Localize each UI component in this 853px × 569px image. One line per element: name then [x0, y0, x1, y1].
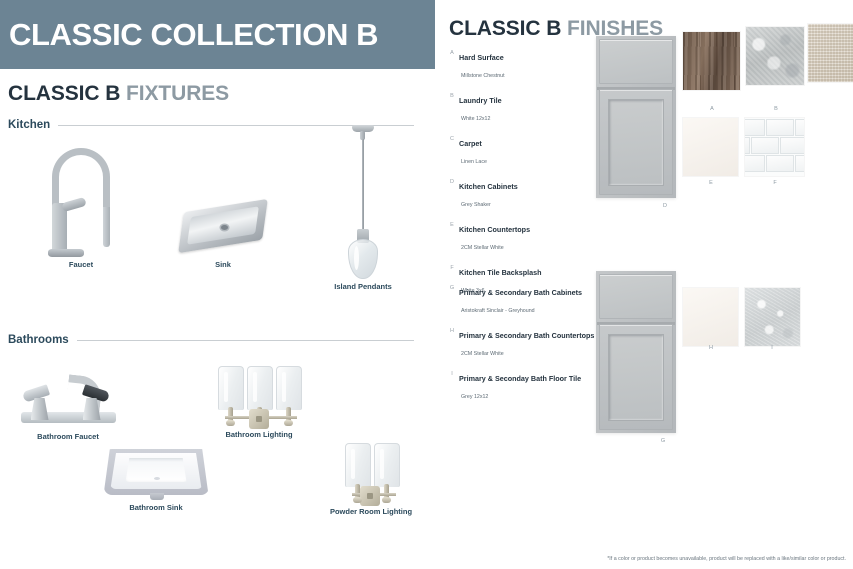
- legend-letter: C: [445, 133, 459, 142]
- legend-name: Kitchen Cabinets: [459, 182, 518, 191]
- powder-knob-2: [382, 497, 391, 503]
- pendant-light-image: [343, 125, 383, 280]
- fixture-caption: Bathroom Lighting: [198, 430, 320, 439]
- tile-brick: [795, 155, 804, 172]
- legend-name: Primary & Secondary Bath Cabinets: [459, 288, 582, 297]
- fixture-caption: Powder Room Lighting: [310, 507, 432, 516]
- finishes-heading-strong: CLASSIC B: [449, 17, 561, 40]
- door-panel-outer: [599, 89, 673, 195]
- page-title: CLASSIC COLLECTION B: [0, 17, 378, 53]
- legend-item: D Kitchen Cabinets Grey Shaker: [445, 176, 542, 211]
- swatch-hard-surface: [683, 32, 740, 90]
- legend-name: Hard Surface: [459, 53, 504, 62]
- vanity-shade-1: [218, 366, 244, 410]
- swatch-letter-e: E: [701, 180, 721, 186]
- swatch-letter-f: F: [765, 180, 785, 186]
- fixture-caption: Bathroom Sink: [95, 503, 217, 512]
- finishes-legend-secondary: G Primary & Secondary Bath Cabinets Aris…: [445, 282, 594, 411]
- section-divider: [77, 340, 414, 341]
- swatch-letter-a: A: [702, 106, 722, 112]
- legend-letter: D: [445, 176, 459, 185]
- legend-item: B Laundry Tile White 12x12: [445, 90, 542, 125]
- tile-brick: [766, 119, 794, 136]
- fixture-bathroom-faucet: Bathroom Faucet: [7, 368, 129, 441]
- legend-sub: Grey Shaker: [459, 202, 491, 208]
- fixture-bathroom-sink: Bathroom Sink: [95, 449, 217, 512]
- swatch-carpet: [808, 24, 853, 82]
- legend-letter: B: [445, 90, 459, 99]
- legend-letter: H: [445, 325, 459, 334]
- tile-brick: [751, 137, 779, 154]
- vanity-backplate: [249, 409, 269, 429]
- tile-brick: [745, 137, 750, 154]
- vanity-knob-1: [226, 420, 235, 426]
- bfaucet-base-left: [31, 398, 49, 420]
- fixtures-heading-strong: CLASSIC B: [8, 82, 120, 105]
- fixture-caption: Faucet: [26, 260, 136, 269]
- legend-letter: G: [445, 282, 459, 291]
- swatch-laundry-tile: [746, 27, 804, 85]
- tile-brick: [745, 119, 765, 136]
- section-header-bathrooms: Bathrooms: [8, 334, 414, 346]
- legend-name: Kitchen Tile Backsplash: [459, 268, 542, 277]
- powder-shade-2: [374, 443, 400, 487]
- door-panel-inner: [608, 334, 664, 421]
- door-panel-inner: [608, 99, 664, 186]
- legend-item: H Primary & Secondary Bath Countertops 2…: [445, 325, 594, 360]
- powder-backplate: [360, 486, 380, 506]
- fixtures-column: CLASSIC COLLECTION B CLASSIC B FIXTURES …: [0, 0, 435, 569]
- legend-item: E Kitchen Countertops 2CM Stellar White: [445, 219, 542, 254]
- cabinet-door-kitchen: [596, 36, 676, 198]
- vanity-knob-2: [284, 420, 293, 426]
- vanity-shade-3: [276, 366, 302, 410]
- legend-sub: Aristokraft Sinclair - Greyhound: [459, 308, 535, 314]
- fixture-bathroom-lighting: Bathroom Lighting: [198, 366, 320, 439]
- faucet-base: [48, 249, 84, 257]
- disclaimer-footnote: *If a color or product becomes unavailab…: [607, 556, 846, 562]
- cabinet-door-bath: [596, 271, 676, 433]
- swatch-letter-b: B: [766, 106, 786, 112]
- swatch-kitchen-backsplash: [745, 118, 804, 176]
- fixture-island-pendants: Island Pendants: [308, 125, 418, 291]
- design-board-page: CLASSIC COLLECTION B CLASSIC B FIXTURES …: [0, 0, 853, 569]
- legend-name: Carpet: [459, 139, 482, 148]
- legend-item: G Primary & Secondary Bath Cabinets Aris…: [445, 282, 594, 317]
- bathroom-sink-image: [104, 449, 209, 501]
- faucet-image: [46, 148, 116, 258]
- bathroom-vanity-light-image: [209, 366, 309, 428]
- legend-item: A Hard Surface Millstone Chestnut: [445, 47, 542, 82]
- legend-name: Primary & Secondary Bath Countertops: [459, 331, 594, 340]
- legend-sub: White 12x12: [459, 116, 490, 122]
- swatch-kitchen-countertop: [683, 118, 738, 176]
- page-banner: CLASSIC COLLECTION B: [0, 0, 435, 69]
- sink-image: [181, 196, 265, 258]
- swatch-bath-countertop: [683, 288, 738, 346]
- tile-brick: [745, 155, 765, 172]
- legend-letter: A: [445, 47, 459, 56]
- door-drawer-front: [599, 274, 673, 319]
- legend-item: I Primary & Seconday Bath Floor Tile Gre…: [445, 368, 594, 403]
- swatch-letter-h: H: [701, 345, 721, 351]
- tile-brick: [780, 137, 804, 154]
- swatch-letter-i: I: [762, 345, 782, 351]
- legend-letter: E: [445, 219, 459, 228]
- legend-sub: 2CM Stellar White: [459, 245, 504, 251]
- legend-letter: I: [445, 368, 459, 377]
- powder-shade-1: [345, 443, 371, 487]
- pendant-glass-shade: [348, 239, 378, 279]
- swatch-letter-g: G: [653, 438, 673, 444]
- fixture-sink: Sink: [168, 196, 278, 269]
- legend-name: Laundry Tile: [459, 96, 502, 105]
- powder-knob-1: [353, 497, 362, 503]
- legend-name: Kitchen Countertops: [459, 225, 530, 234]
- legend-sub: Millstone Chestnut: [459, 73, 505, 79]
- fixture-faucet: Faucet: [26, 148, 136, 269]
- bsink-overflow: [154, 477, 160, 480]
- fixtures-heading-light: FIXTURES: [126, 82, 229, 105]
- fixture-powder-room-lighting: Powder Room Lighting: [310, 443, 432, 516]
- finishes-column: CLASSIC B FINISHES A Hard Surface Millst…: [435, 0, 853, 569]
- legend-sub: Linen Lace: [459, 159, 487, 165]
- fixtures-heading: CLASSIC B FIXTURES: [8, 82, 229, 106]
- legend-sub: 2CM Stellar White: [459, 351, 504, 357]
- powder-room-light-image: [335, 443, 407, 505]
- pendant-rod: [362, 139, 364, 233]
- door-drawer-front: [599, 39, 673, 84]
- sink-drain: [221, 225, 228, 230]
- bathroom-faucet-image: [21, 368, 116, 430]
- legend-item: C Carpet Linen Lace: [445, 133, 542, 168]
- legend-name: Primary & Seconday Bath Floor Tile: [459, 374, 581, 383]
- tile-brick: [766, 155, 794, 172]
- tile-brick: [795, 119, 804, 136]
- finishes-legend-primary: A Hard Surface Millstone Chestnut B Laun…: [445, 47, 542, 305]
- swatch-letter-d: D: [655, 203, 675, 209]
- legend-letter: F: [445, 262, 459, 271]
- fixture-caption: Sink: [168, 260, 278, 269]
- vanity-shade-2: [247, 366, 273, 410]
- bsink-tab: [150, 493, 164, 500]
- fixture-caption: Bathroom Faucet: [7, 432, 129, 441]
- legend-sub: Grey 12x12: [459, 394, 488, 400]
- fixture-caption: Island Pendants: [308, 282, 418, 291]
- swatch-bath-floor-tile: [745, 288, 800, 346]
- section-label-bathrooms: Bathrooms: [8, 334, 77, 346]
- door-panel-outer: [599, 324, 673, 430]
- section-label-kitchen: Kitchen: [8, 119, 58, 131]
